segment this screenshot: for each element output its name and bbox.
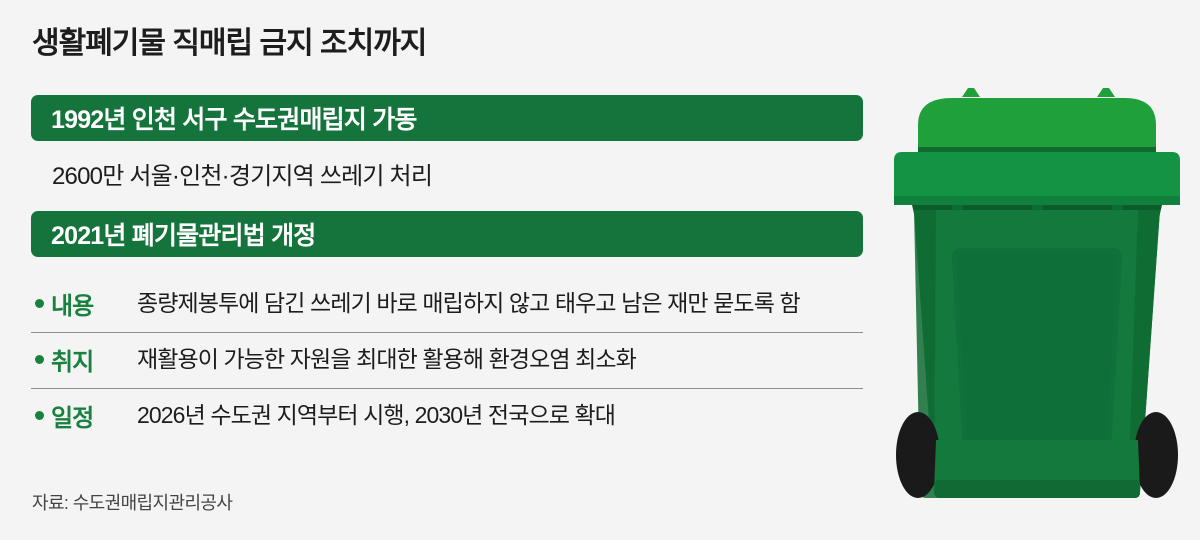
page-title: 생활폐기물 직매립 금지 조치까지 [32,18,426,62]
detail-row-value: 종량제봉투에 담긴 쓰레기 바로 매립하지 않고 태우고 남은 재만 묻도록 함 [137,289,863,318]
content-column: 생활폐기물 직매립 금지 조치까지 1992년 인천 서구 수도권매립지 가동 … [0,0,890,548]
detail-row-key-label: 일정 [51,398,93,433]
infographic-root: 생활폐기물 직매립 금지 조치까지 1992년 인천 서구 수도권매립지 가동 … [0,0,1200,548]
detail-rows-list: 내용 종량제봉투에 담긴 쓰레기 바로 매립하지 않고 태우고 남은 재만 묻도… [31,277,863,444]
section-1-subtext: 2600만 서울·인천·경기지역 쓰레기 처리 [52,156,432,191]
source-credit: 자료: 수도권매립지관리공사 [32,489,232,515]
detail-row-key: 일정 [31,398,137,433]
bullet-dot-icon [35,355,44,364]
detail-row-value: 재활용이 가능한 자원을 최대한 활용해 환경오염 최소화 [137,345,863,374]
detail-row: 취지 재활용이 가능한 자원을 최대한 활용해 환경오염 최소화 [31,332,863,388]
section-bar-1-label: 1992년 인천 서구 수도권매립지 가동 [51,100,417,136]
detail-row-key: 내용 [31,286,137,321]
detail-row: 일정 2026년 수도권 지역부터 시행, 2030년 전국으로 확대 [31,388,863,444]
bullet-dot-icon [35,299,44,308]
trash-bin-illustration [890,0,1200,548]
bullet-dot-icon [35,411,44,420]
section-bar-2-label: 2021년 폐기물관리법 개정 [51,216,316,252]
bottom-edge-strip [0,540,1200,548]
detail-row-key: 취지 [31,342,137,377]
section-bar-1: 1992년 인천 서구 수도권매립지 가동 [31,95,863,141]
detail-row-key-label: 내용 [51,286,93,321]
trash-bin-icon [890,0,1200,548]
detail-row-key-label: 취지 [51,342,93,377]
section-bar-2: 2021년 폐기물관리법 개정 [31,211,863,257]
detail-row-value: 2026년 수도권 지역부터 시행, 2030년 전국으로 확대 [137,401,863,430]
detail-row: 내용 종량제봉투에 담긴 쓰레기 바로 매립하지 않고 태우고 남은 재만 묻도… [31,277,863,332]
